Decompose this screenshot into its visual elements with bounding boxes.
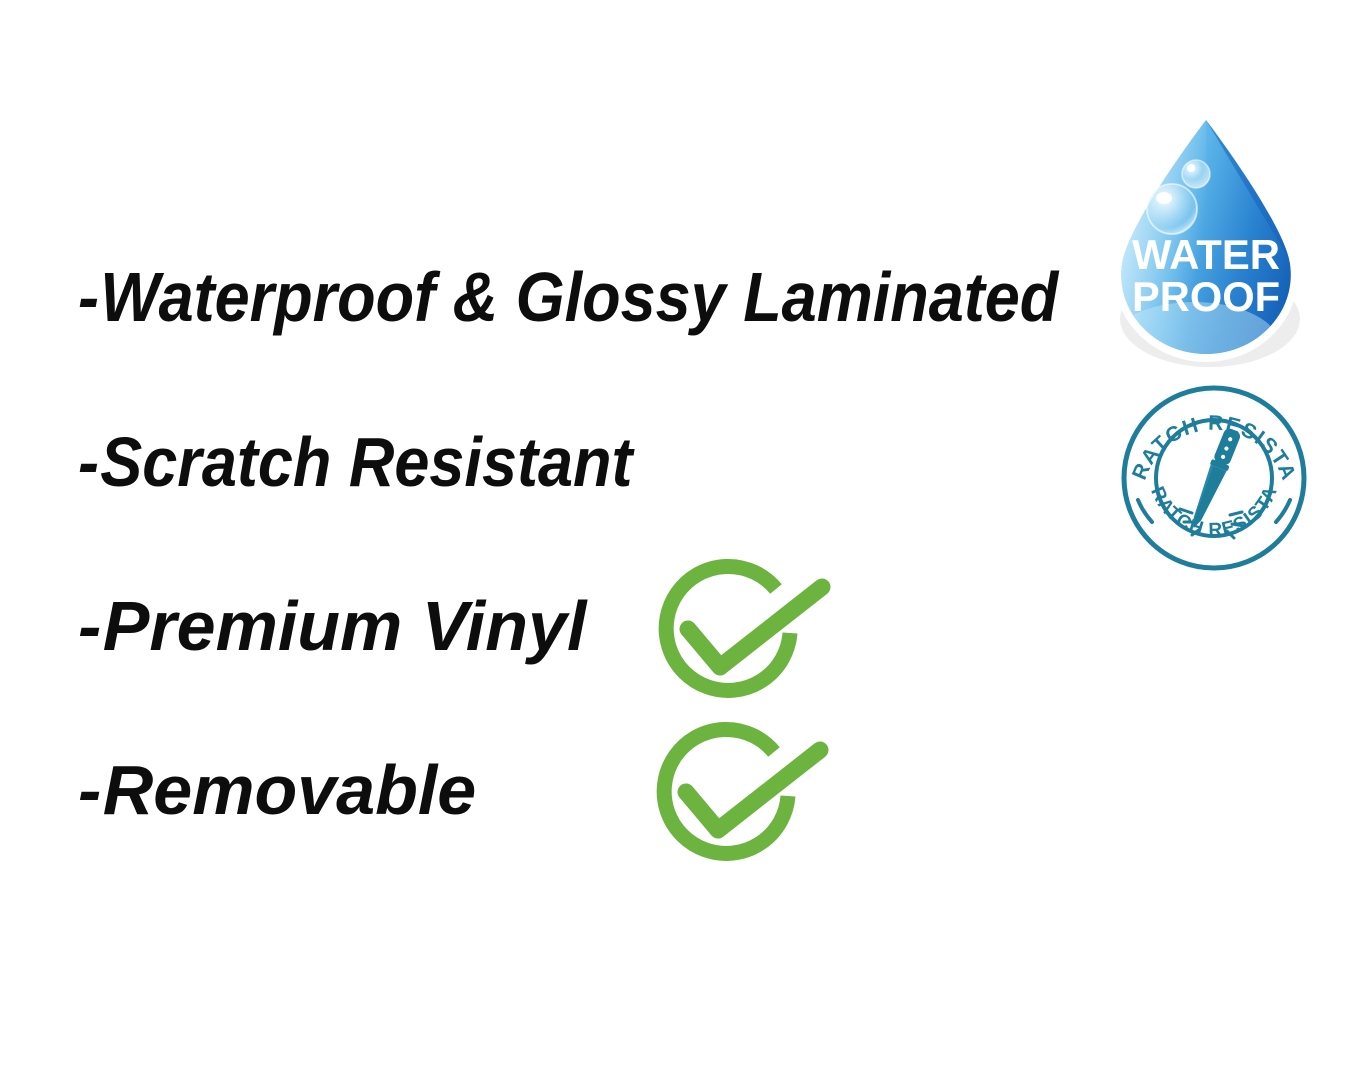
stamp-dash-right [1276, 500, 1290, 522]
waterproof-badge: WATER PROOF [1098, 104, 1314, 370]
feature-label: Premium Vinyl [103, 587, 587, 665]
check-icon-premium-vinyl [640, 555, 836, 711]
feature-item-premium-vinyl: -Premium Vinyl [78, 591, 586, 661]
water-bubble-large [1147, 184, 1197, 234]
stamp-dash-left [1138, 500, 1152, 522]
feature-label: Scratch Resistant [100, 423, 632, 501]
feature-dash: - [78, 258, 100, 336]
feature-label: Removable [103, 751, 476, 829]
check-icon-removable [638, 718, 834, 874]
water-bubble-large-highlight [1156, 192, 1172, 204]
feature-label: Waterproof & Glossy Laminated [100, 258, 1058, 336]
feature-dash: - [78, 423, 100, 501]
feature-list-page: -Waterproof & Glossy Laminated -Scratch … [0, 0, 1359, 1080]
stamp-top-text: SCRATCH RESISTANT [1118, 382, 1300, 484]
green-check-mark [686, 750, 820, 830]
waterproof-line-1: WATER [1132, 231, 1280, 278]
water-bubble-small-highlight [1187, 164, 1195, 172]
feature-item-removable: -Removable [78, 755, 476, 825]
feature-dash: - [78, 751, 103, 829]
waterproof-line-2: PROOF [1132, 273, 1280, 320]
feature-item-waterproof-glossy-laminated: -Waterproof & Glossy Laminated [78, 262, 1058, 332]
feature-dash: - [78, 587, 103, 665]
green-check-mark [688, 587, 822, 667]
scratch-resistant-badge: SCRATCH RESISTANT SCRATCH RESISTANT [1118, 382, 1310, 572]
feature-item-scratch-resistant: -Scratch Resistant [78, 427, 632, 497]
water-bubble-small [1182, 160, 1210, 188]
